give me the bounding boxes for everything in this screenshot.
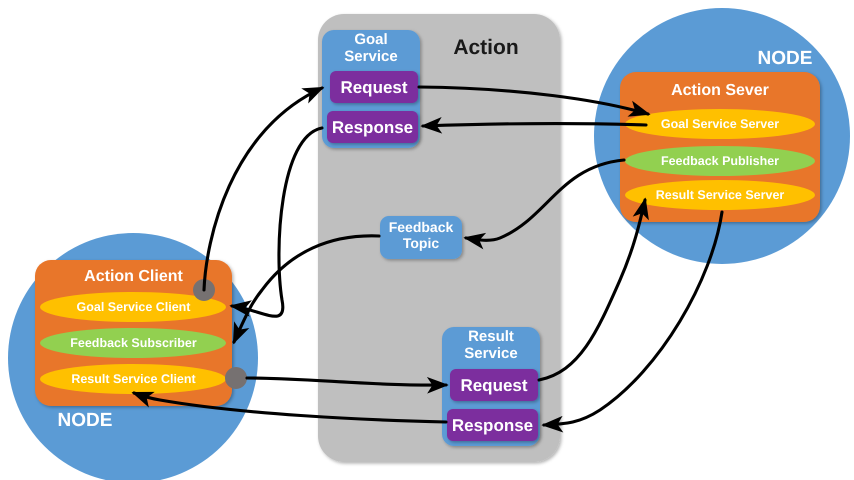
feedback-topic-box	[380, 216, 462, 259]
interface-goal-service-server	[625, 109, 815, 139]
result-service-request-box	[450, 369, 538, 401]
goal-client-connector-dot	[193, 279, 215, 301]
interface-result-service-client	[40, 364, 226, 394]
result-client-connector-dot	[225, 367, 247, 389]
goal-service-response-box	[327, 111, 418, 143]
goal-service-request-box	[330, 71, 418, 103]
shape-layer	[0, 0, 854, 480]
interface-feedback-publisher	[625, 146, 815, 176]
diagram-canvas: Action Goal Service Request Response Fee…	[0, 0, 854, 480]
interface-feedback-subscriber	[40, 328, 226, 358]
result-service-response-box	[447, 409, 538, 441]
interface-result-service-server	[625, 180, 815, 210]
